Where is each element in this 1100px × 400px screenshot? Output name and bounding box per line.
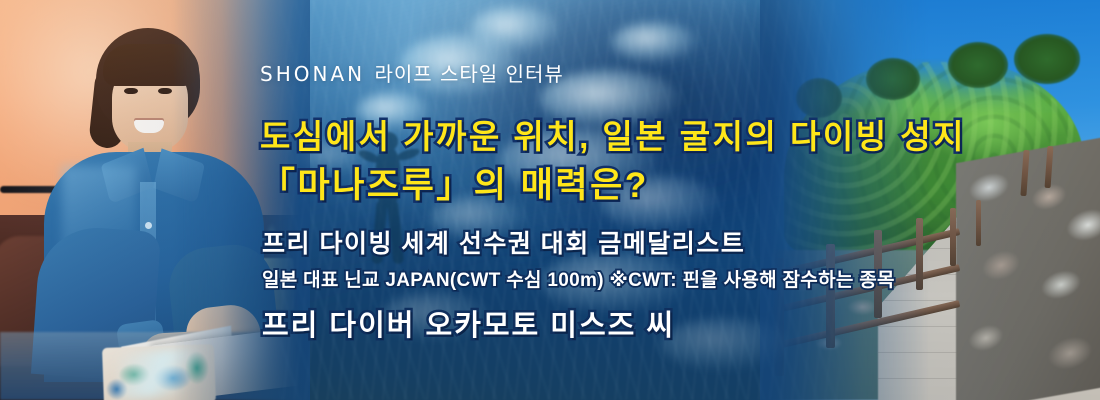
headline-line-1: 도심에서 가까운 위치, 일본 굴지의 다이빙 성지 [260, 110, 966, 158]
subtitle-note: 일본 대표 닌교 JAPAN(CWT 수심 100m) ※CWT: 핀을 사용해… [262, 265, 895, 292]
subtitle-achievement: 프리 다이빙 세계 선수권 대회 금메달리스트 [262, 224, 745, 260]
headline-line-2: 「마나즈루」의 매력은? [260, 157, 649, 208]
pouch-glare [117, 347, 212, 399]
pine-tree [1014, 34, 1080, 84]
interview-hero-banner: SHONAN 라이프 스타일 인터뷰 도심에서 가까운 위치, 일본 굴지의 다… [0, 0, 1100, 400]
kicker-en: SHONAN [260, 62, 365, 86]
shirt-button [145, 222, 152, 229]
kicker-kr: 라이프 스타일 인터뷰 [374, 62, 563, 86]
interview-portrait-photo [0, 0, 300, 400]
headline-copy-block: SHONAN 라이프 스타일 인터뷰 도심에서 가까운 위치, 일본 굴지의 다… [256, 0, 996, 400]
eye-right [158, 88, 172, 94]
hair-fringe [103, 44, 199, 86]
kicker-text: SHONAN 라이프 스타일 인터뷰 [260, 58, 564, 87]
subtitle-person-name: 프리 다이버 오카모토 미스즈 씨 [262, 302, 675, 344]
eye-left [124, 88, 138, 94]
